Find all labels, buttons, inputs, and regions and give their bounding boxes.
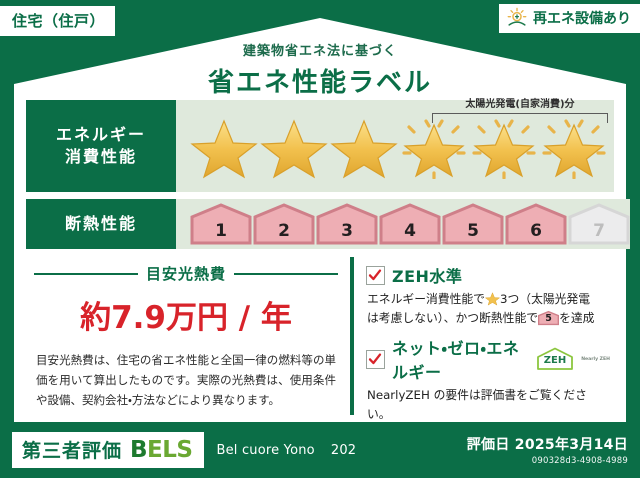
utility-cost-heading: 目安光熱費 [34,263,338,284]
third-party-eval-label: 第三者評価 [22,436,122,463]
insulation-rating-value: 1 2 3 4 5 [176,199,630,249]
insulation-level-number: 7 [568,221,630,241]
insulation-level-number: 4 [379,221,441,241]
insulation-level-5-badge: 5 [538,310,559,326]
column-divider [350,257,354,415]
bels-letters-els: ELS [147,437,192,463]
insulation-level-house: 6 [505,203,567,245]
utility-cost-value: 約7.9万円 / 年 [32,292,340,337]
net-zero-checkbox[interactable] [366,350,385,369]
bels-certification-mark: 第三者評価 BELS [12,432,204,468]
solar-sun-icon [506,7,528,29]
insulation-level-house: 4 [379,203,441,245]
building-identification: Bel cuore Yono202 [216,443,356,458]
bels-letter-b: B [130,437,147,463]
solar-note-label: 太陽光発電(自家消費)分 [432,99,608,111]
insulation-level-house: 3 [316,203,378,245]
evaluation-date: 評価日 2025年3月14日 [467,434,628,454]
unit-number: 202 [331,443,356,458]
zeh-standard-body: エネルギー消費性能で3つ（太陽光発電 は考慮しない）、かつ断熱性能で5を達成 [367,290,610,328]
zeh-panel: ZEH水準 エネルギー消費性能で3つ（太陽光発電 は考慮しない）、かつ断熱性能で… [358,257,614,415]
inline-star-icon [485,291,500,306]
zeh-body-part2: は考慮しない）、かつ断熱性能で [367,311,538,325]
building-type-tag: 住宅（住戸） [0,6,115,36]
badge-number: 5 [538,311,559,326]
bels-wordmark: BELS [130,437,192,463]
insulation-level-number: 1 [190,221,252,241]
insulation-level-house: 5 [442,203,504,245]
zeh-standard-checkbox[interactable] [366,266,385,285]
evaluation-id: 090328d3-4908-4989 [467,456,628,466]
net-zero-row: ネット・ゼロ・エネルギー ZEH Nearly ZEH [366,335,610,383]
energy-label-line1: エネルギー [56,124,146,146]
insulation-rating-row: 断熱性能 1 2 3 [26,199,614,249]
star-rating-group [176,113,608,179]
insulation-level-number: 2 [253,221,315,241]
content-plate: エネルギー 消費性能 太陽光発電(自家消費)分 [26,100,614,420]
solar-portion-note: 太陽光発電(自家消費)分 [432,99,608,111]
energy-rating-value: 太陽光発電(自家消費)分 [176,100,614,192]
rule-left [34,273,138,275]
insulation-level-house-inactive: 7 [568,203,630,245]
utility-cost-heading-label: 目安光熱費 [146,263,226,284]
insulation-level-number: 3 [316,221,378,241]
insulation-level-number: 6 [505,221,567,241]
zeh-standard-row: ZEH水準 [366,263,610,287]
insulation-level-group: 1 2 3 4 5 [176,203,630,245]
building-name: Bel cuore Yono [216,443,314,458]
insulation-level-house: 2 [253,203,315,245]
rule-right [234,273,338,275]
zeh-body-star-count: 3つ（太陽光発電 [500,292,590,306]
star-solar [470,113,538,179]
insulation-rating-label: 断熱性能 [26,199,176,249]
zeh-body-part3: を達成 [559,311,594,325]
utility-cost-panel: 目安光熱費 約7.9万円 / 年 目安光熱費は、住宅の省エネ性能と全国一律の燃料… [26,257,346,415]
star-filled [330,113,398,179]
zeh-standard-title: ZEH水準 [392,263,462,287]
evaluation-meta: 評価日 2025年3月14日 090328d3-4908-4989 [467,434,628,466]
insulation-level-house: 1 [190,203,252,245]
star-solar [540,113,608,179]
renewable-badge-label: 再エネ設備あり [533,8,631,28]
star-filled [190,113,258,179]
renewable-equipment-badge: 再エネ設備あり [499,4,640,33]
insulation-level-number: 5 [442,221,504,241]
energy-performance-label: 住宅（住戸） 再エネ設備あり 建築物省エネ法に基づく 省エネ性能ラベル [0,0,640,478]
star-solar [400,113,468,179]
net-zero-title: ネット・ゼロ・エネルギー [392,335,527,383]
lower-section: 目安光熱費 約7.9万円 / 年 目安光熱費は、住宅の省エネ性能と全国一律の燃料… [26,257,614,415]
footer: 第三者評価 BELS Bel cuore Yono202 評価日 2025年3月… [0,422,640,478]
energy-rating-label: エネルギー 消費性能 [26,100,176,192]
zeh-body-part1: エネルギー消費性能で [367,292,485,306]
label-title-block: 建築物省エネ法に基づく 省エネ性能ラベル [0,40,640,99]
energy-rating-row: エネルギー 消費性能 太陽光発電(自家消費)分 [26,100,614,192]
utility-cost-note: 目安光熱費は、住宅の省エネ性能と全国一律の燃料等の単価を用いて算出したものです。… [36,351,336,410]
svg-text:ZEH: ZEH [544,355,566,366]
page-title: 省エネ性能ラベル [0,62,640,99]
net-zero-body: NearlyZEH の要件は評価書をご覧ください。 [367,386,610,424]
title-subtitle: 建築物省エネ法に基づく [0,40,640,59]
zeh-logo-icon: ZEH [534,346,576,372]
zeh-logo-subtext: Nearly ZEH [581,357,610,362]
insulation-label-text: 断熱性能 [65,213,137,235]
star-filled [260,113,328,179]
energy-label-line2: 消費性能 [65,146,137,168]
